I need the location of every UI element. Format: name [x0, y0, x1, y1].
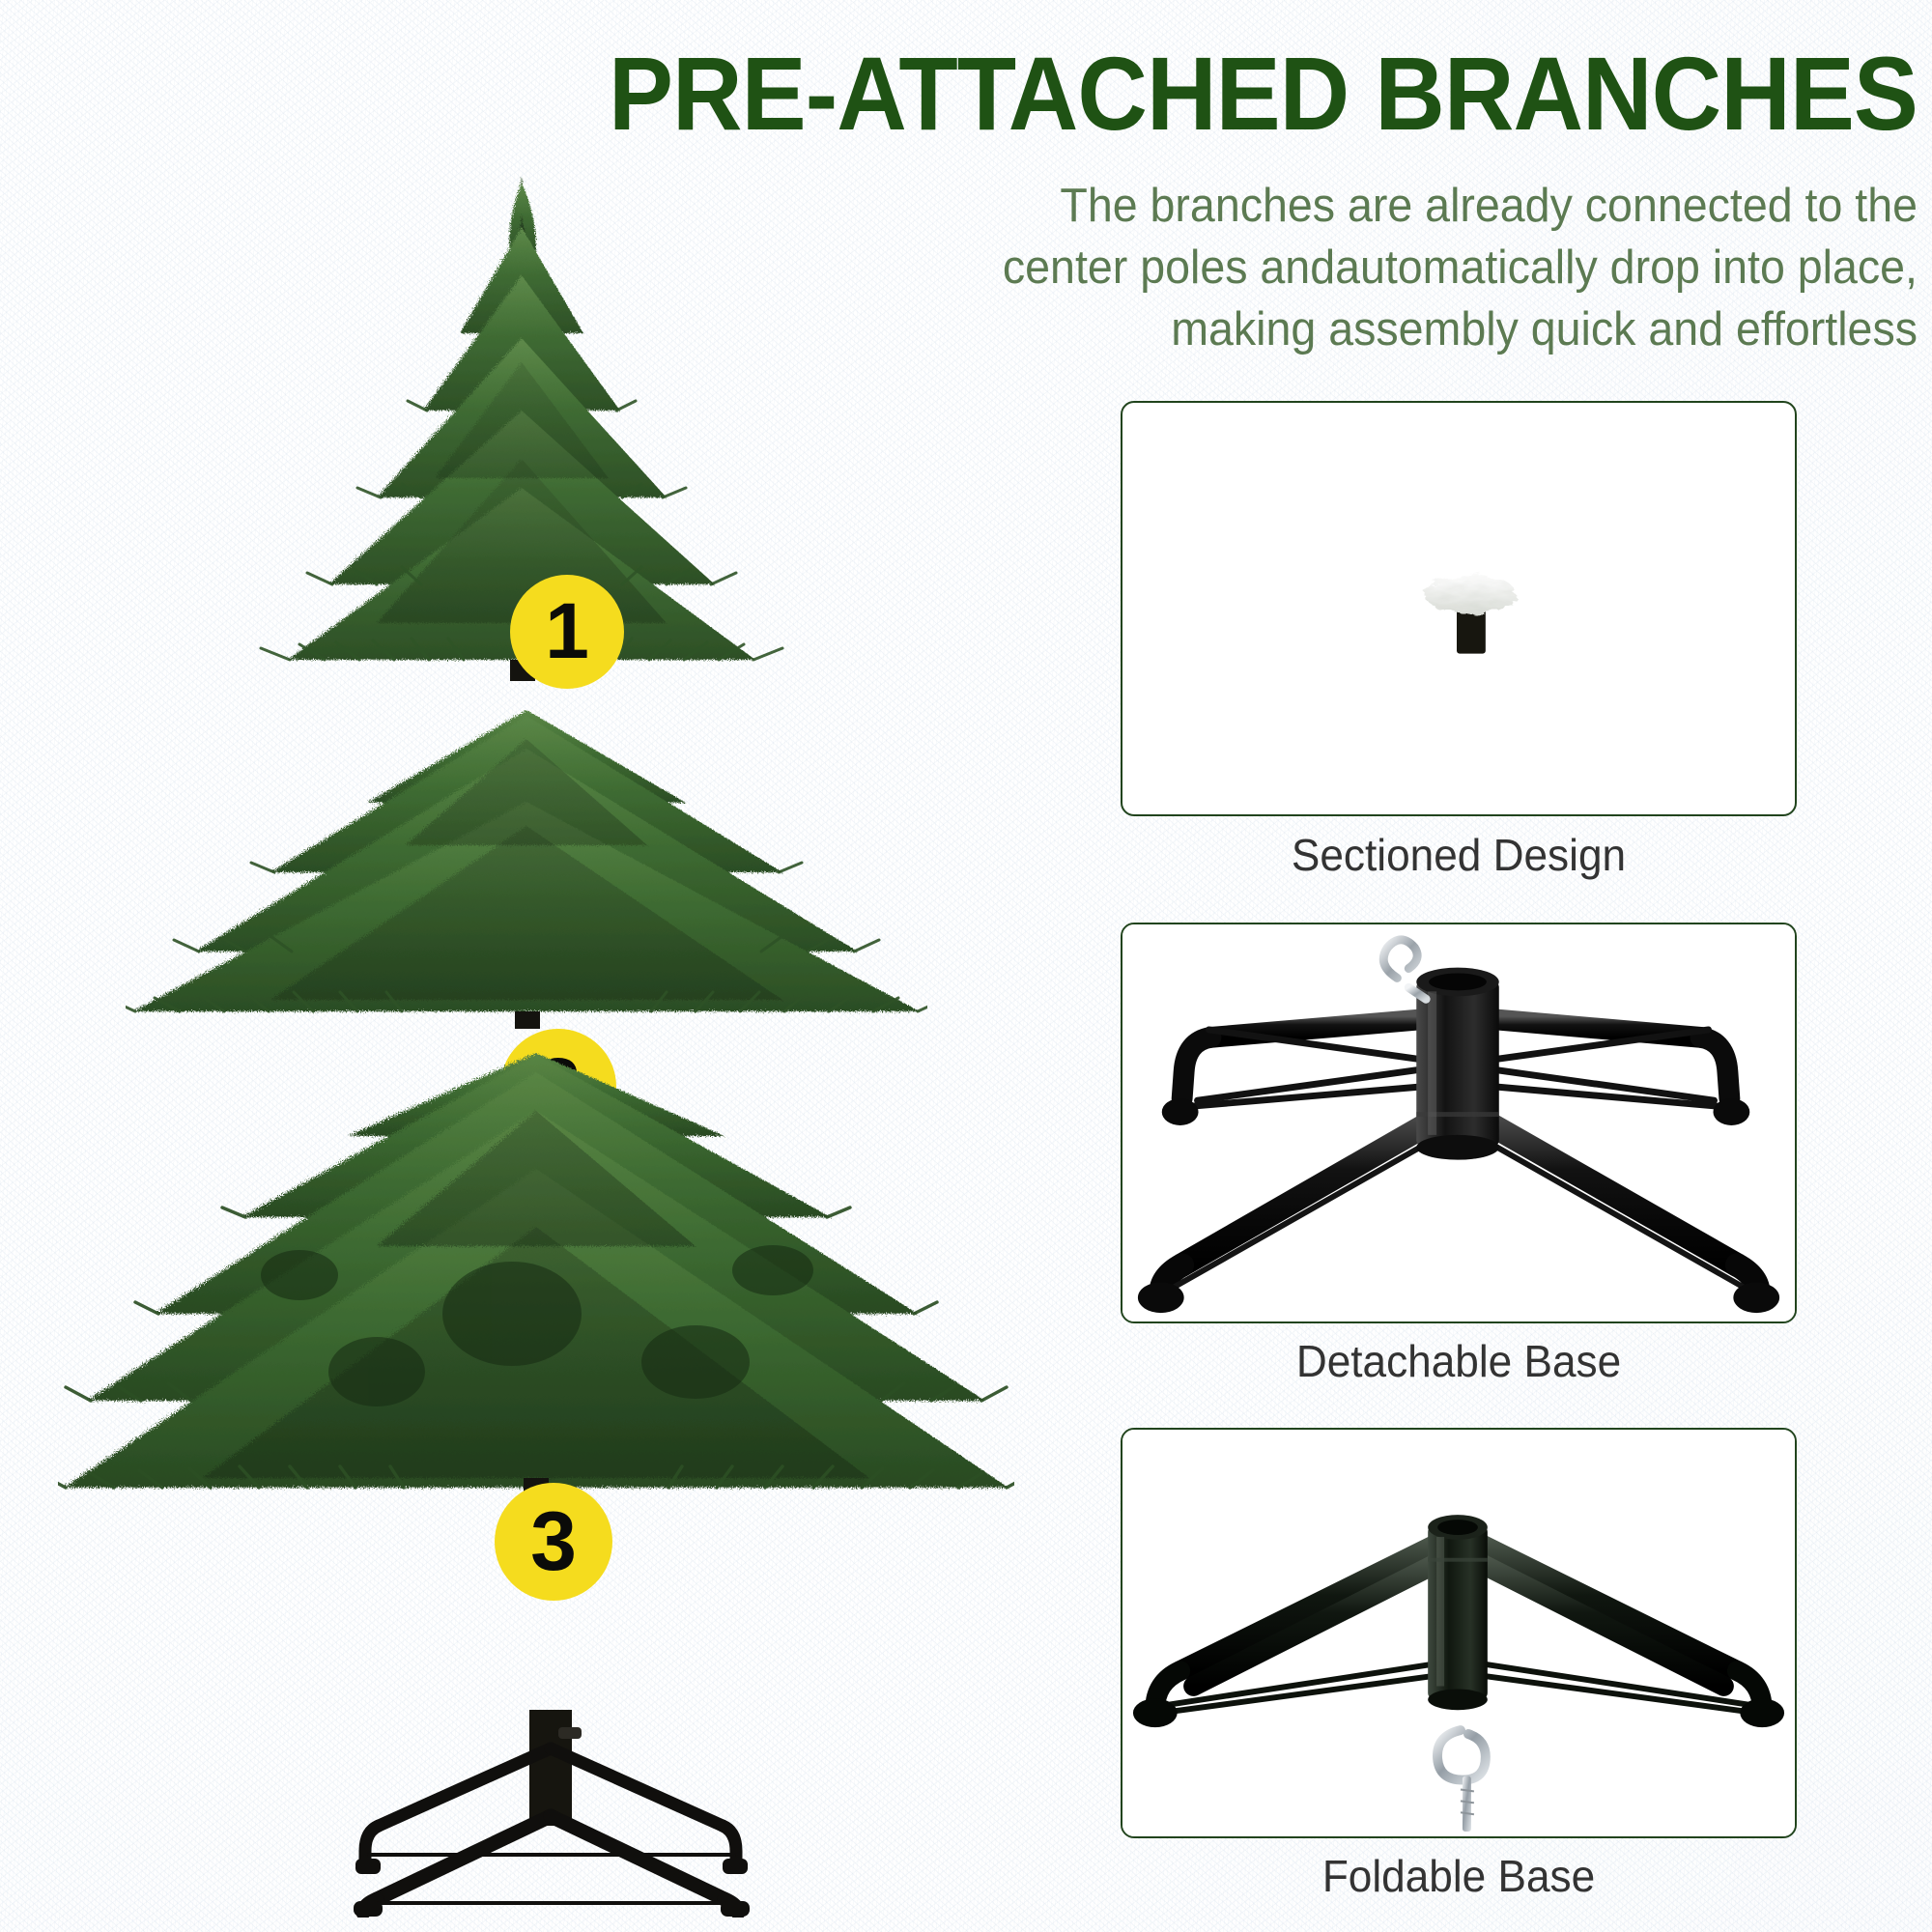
- card-detachable-base[interactable]: [1121, 923, 1797, 1323]
- tree-bottom-section: [58, 1053, 1014, 1555]
- tree-bottom-section-illustration: [58, 1053, 1014, 1555]
- tree-middle-section: [126, 710, 927, 1029]
- caption-foldable-base: Foldable Base: [1134, 1850, 1783, 1902]
- card-sectioned-design[interactable]: [1121, 401, 1797, 816]
- tree-stand-illustration: [319, 1710, 782, 1918]
- folded-tree-stand-photo: [1122, 1430, 1795, 1836]
- flocked-tree-section-photo: [1122, 403, 1795, 814]
- page-title: PRE-ATTACHED BRANCHES: [512, 41, 1918, 147]
- card-foldable-base[interactable]: [1121, 1428, 1797, 1838]
- step-badge-1: 1: [510, 575, 624, 689]
- tree-stand-photo: [1122, 924, 1795, 1321]
- tree-middle-section-illustration: [126, 710, 927, 1029]
- caption-sectioned-design: Sectioned Design: [1134, 829, 1783, 881]
- step-badge-3: 3: [495, 1483, 612, 1601]
- caption-detachable-base: Detachable Base: [1134, 1335, 1783, 1387]
- tree-stand-under-main-tree: [319, 1710, 782, 1918]
